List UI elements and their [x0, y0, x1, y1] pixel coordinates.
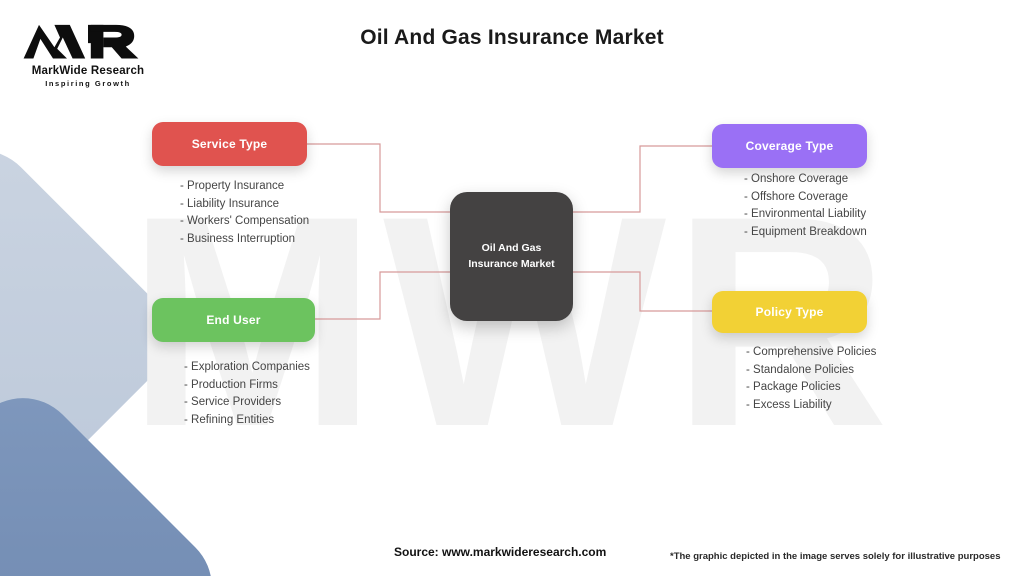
connector-coverage-to-center — [573, 146, 712, 212]
center-node[interactable]: Oil And Gas Insurance Market — [450, 192, 573, 321]
node-end-user-label: End User — [206, 313, 260, 327]
list-item: - Production Firms — [184, 377, 310, 395]
list-item: - Equipment Breakdown — [744, 224, 867, 242]
center-node-line1: Oil And Gas — [482, 242, 542, 254]
list-item: - Excess Liability — [746, 397, 876, 415]
list-item: - Onshore Coverage — [744, 171, 867, 189]
list-end-user: - Exploration Companies - Production Fir… — [184, 359, 310, 429]
brand-tagline: Inspiring Growth — [18, 79, 158, 88]
node-policy-type-label: Policy Type — [755, 305, 823, 319]
node-coverage-type-label: Coverage Type — [746, 139, 834, 153]
source-label: Source: www.markwideresearch.com — [394, 545, 606, 559]
list-coverage-type: - Onshore Coverage - Offshore Coverage -… — [744, 171, 867, 241]
connector-enduser-to-center — [315, 272, 450, 319]
list-item: - Property Insurance — [180, 178, 309, 196]
list-service-type: - Property Insurance - Liability Insuran… — [180, 178, 309, 248]
disclaimer-text: *The graphic depicted in the image serve… — [670, 551, 1001, 562]
list-item: - Package Policies — [746, 379, 876, 397]
page-title: Oil And Gas Insurance Market — [0, 26, 1024, 50]
list-item: - Liability Insurance — [180, 196, 309, 214]
list-item: - Service Providers — [184, 394, 310, 412]
list-item: - Offshore Coverage — [744, 189, 867, 207]
node-service-type-label: Service Type — [192, 137, 268, 151]
brand-name: MarkWide Research — [18, 65, 158, 77]
center-node-line2: Insurance Market — [468, 258, 554, 270]
list-policy-type: - Comprehensive Policies - Standalone Po… — [746, 344, 876, 414]
list-item: - Comprehensive Policies — [746, 344, 876, 362]
list-item: - Workers' Compensation — [180, 213, 309, 231]
infographic-canvas: MWR MarkWide Research Inspiring Growth O… — [0, 0, 1024, 576]
connector-service-to-center — [307, 144, 450, 212]
node-service-type[interactable]: Service Type — [152, 122, 307, 166]
node-policy-type[interactable]: Policy Type — [712, 291, 867, 333]
list-item: - Refining Entities — [184, 412, 310, 430]
node-coverage-type[interactable]: Coverage Type — [712, 124, 867, 168]
list-item: - Standalone Policies — [746, 362, 876, 380]
list-item: - Exploration Companies — [184, 359, 310, 377]
node-end-user[interactable]: End User — [152, 298, 315, 342]
list-item: - Business Interruption — [180, 231, 309, 249]
center-node-label: Oil And Gas Insurance Market — [468, 241, 554, 271]
connector-policy-to-center — [573, 272, 712, 311]
list-item: - Environmental Liability — [744, 206, 867, 224]
